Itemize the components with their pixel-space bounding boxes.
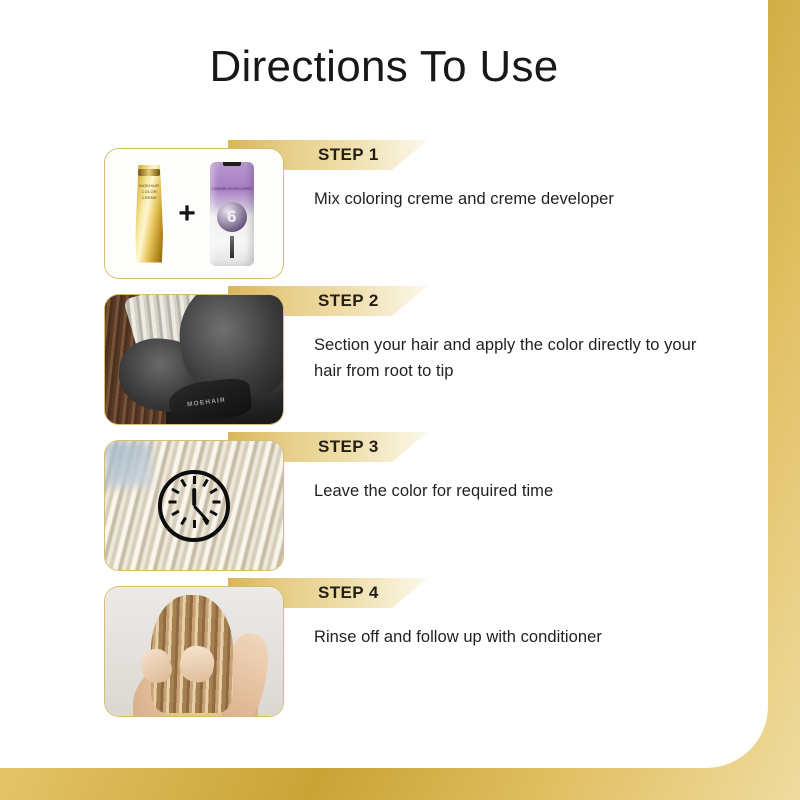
step-badge-label: STEP 1 <box>318 145 379 165</box>
step-row: STEP 2 MOEHAIR <box>0 286 768 432</box>
step-image-card <box>104 586 284 717</box>
clock-tick <box>193 520 196 528</box>
step-badge-label: STEP 2 <box>318 291 379 311</box>
clock-hour-hand <box>192 488 196 506</box>
infographic-content: Directions To Use STEP 1 MOEHAIR COLOR C… <box>0 0 800 800</box>
tube-label: MOEHAIR COLOR CREME <box>134 183 164 201</box>
step-image-card: MOEHAIR <box>104 294 284 425</box>
color-creme-tube-icon: MOEHAIR COLOR CREME <box>134 165 164 263</box>
clock-tick <box>193 476 196 484</box>
rinsing-and-conditioning-photo <box>105 587 283 716</box>
step-image-card <box>104 440 284 571</box>
creme-developer-bottle-icon: CREME DEVELOPER 6 <box>210 162 254 266</box>
bottle-strip <box>230 236 234 258</box>
step-image-card: MOEHAIR COLOR CREME + CREME DEVELOPER 6 <box>104 148 284 279</box>
clock-tick <box>180 478 187 486</box>
step-row: STEP 3 Leave the color <box>0 432 768 578</box>
clock-tick <box>168 500 176 503</box>
bottle-cap <box>223 162 241 166</box>
clock-tick <box>209 487 217 494</box>
clock-tick <box>171 487 179 494</box>
bottle-label: CREME DEVELOPER <box>210 186 254 191</box>
step-badge-label: STEP 4 <box>318 583 379 603</box>
clock-tick <box>209 509 217 516</box>
step-description: Leave the color for required time <box>314 478 714 504</box>
coloring-creme-and-developer-photo: MOEHAIR COLOR CREME + CREME DEVELOPER 6 <box>105 149 283 278</box>
processing-time-clock-photo <box>105 441 283 570</box>
clock-tick <box>171 509 179 516</box>
clock-tick <box>180 516 187 524</box>
page-title: Directions To Use <box>0 42 768 92</box>
steps-list: STEP 1 MOEHAIR COLOR CREME + CREME DEVEL… <box>0 140 768 724</box>
step-description: Section your hair and apply the color di… <box>314 332 714 384</box>
step-row: STEP 1 MOEHAIR COLOR CREME + CREME DEVEL… <box>0 140 768 286</box>
applying-color-with-brush-photo: MOEHAIR <box>105 295 283 424</box>
clock-tick <box>202 478 209 486</box>
step-description: Mix coloring creme and creme developer <box>314 186 714 212</box>
step-badge-label: STEP 3 <box>318 437 379 457</box>
clock-icon <box>158 470 230 542</box>
clock-tick <box>212 500 220 503</box>
step-row: STEP 4 Rinse off and follow up with cond… <box>0 578 768 724</box>
plus-icon: + <box>178 199 196 229</box>
developer-volume-mark: 6 <box>217 202 247 232</box>
background-blur <box>105 441 151 487</box>
directions-to-use-infographic: Directions To Use STEP 1 MOEHAIR COLOR C… <box>0 0 800 800</box>
step-description: Rinse off and follow up with conditioner <box>314 624 714 650</box>
